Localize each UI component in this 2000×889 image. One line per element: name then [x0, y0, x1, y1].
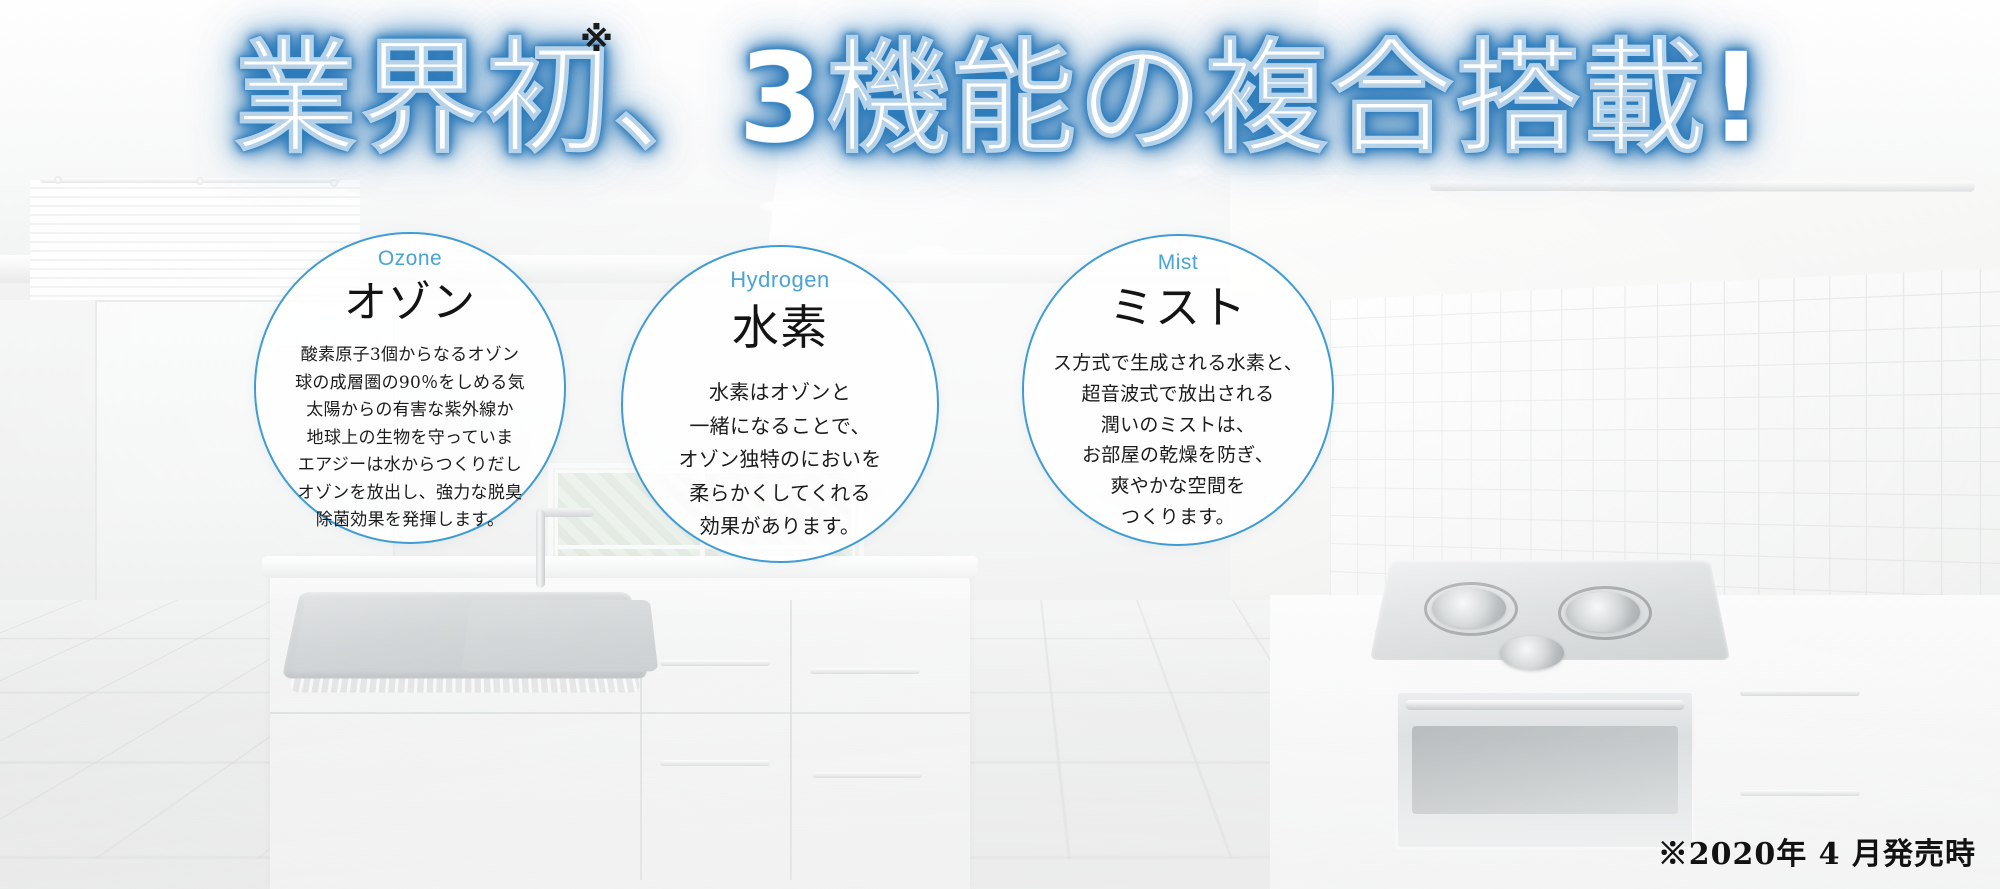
feature-en-label-ozone: Ozone — [378, 248, 442, 269]
feature-circle-mist[interactable]: Mist ミスト ス方式で生成される水素と、 超音波式で放出される 潤いのミスト… — [1022, 234, 1334, 546]
feature-description-mist: ス方式で生成される水素と、 超音波式で放出される 潤いのミストは、 お部屋の乾燥… — [1053, 348, 1303, 533]
feature-title-mist: ミスト — [1109, 285, 1247, 330]
headline-reference-mark-icon: ※ — [580, 20, 613, 60]
feature-description-ozone: 酸素原子3個からなるオゾン 球の成層圏の90％をしめる気 太陽からの有害な紫外線… — [295, 342, 525, 535]
headline-container: 業界初、3機能の複合搭載! ※ — [0, 14, 2000, 184]
feature-title-ozone: オゾン — [344, 282, 476, 325]
feature-en-label-mist: Mist — [1158, 252, 1199, 273]
feature-title-hydrogen: 水素 — [732, 305, 828, 352]
promo-banner: 業界初、3機能の複合搭載! ※ Ozone オゾン 酸素原子3個からなるオゾン … — [0, 0, 2000, 889]
headline: 業界初、3機能の複合搭載! — [234, 37, 1767, 161]
feature-circle-ozone[interactable]: Ozone オゾン 酸素原子3個からなるオゾン 球の成層圏の90％をしめる気 太… — [254, 232, 566, 544]
feature-circle-hydrogen[interactable]: Hydrogen 水素 水素はオゾンと 一緒になることで、 オゾン独特のにおいを… — [621, 245, 939, 563]
release-date-footnote: ※2020年 4 月発売時 — [1658, 829, 1976, 873]
feature-description-hydrogen: 水素はオゾンと 一緒になることで、 オゾン独特のにおいを 柔らかくしてくれる 効… — [679, 376, 882, 544]
feature-en-label-hydrogen: Hydrogen — [730, 269, 829, 291]
